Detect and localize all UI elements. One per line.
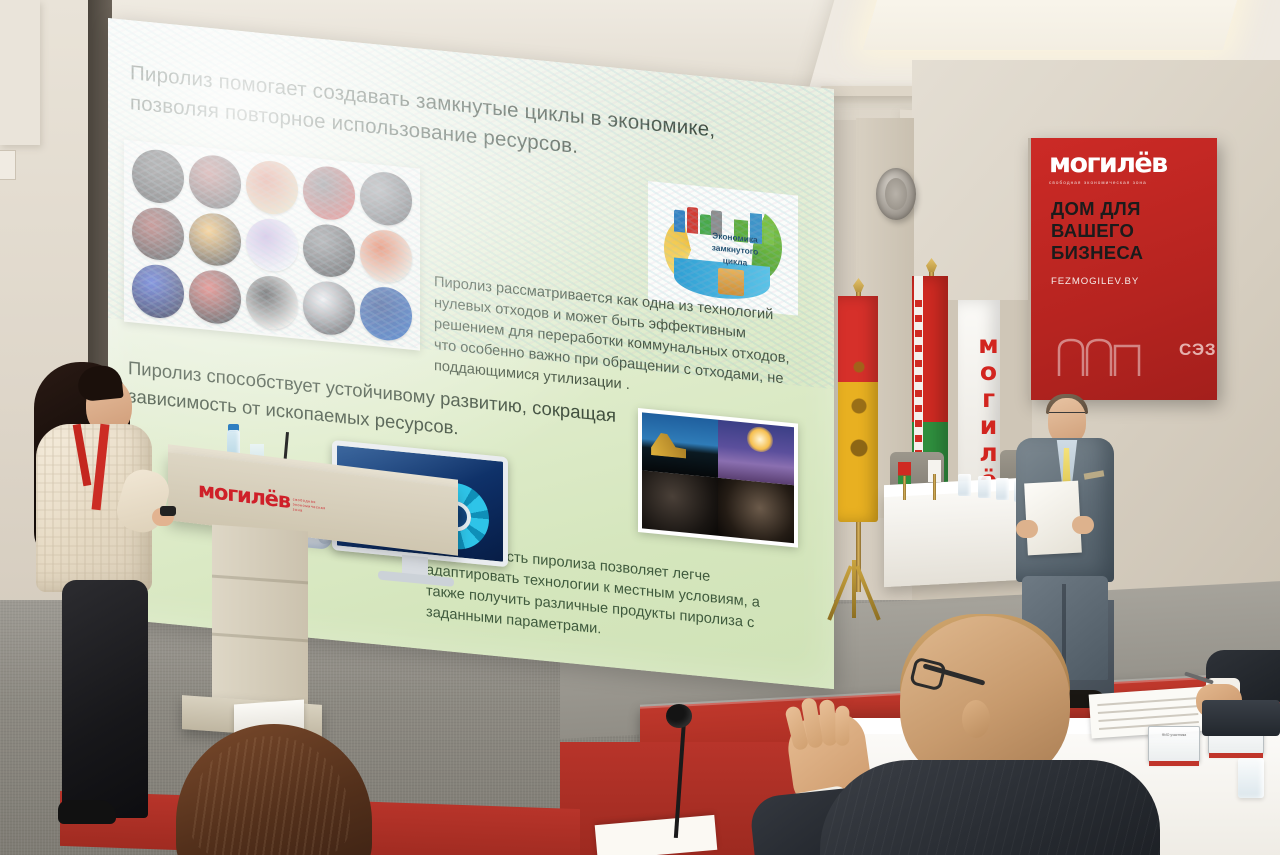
attendee-ear — [962, 700, 990, 738]
product-photo-recycled-textile — [189, 153, 241, 211]
water-tumbler — [996, 478, 1009, 500]
region-flag-ornament — [846, 340, 872, 490]
product-photo-blue-cables — [132, 263, 184, 321]
speaker-hand — [1016, 520, 1038, 538]
product-photo-wire-cross-section — [189, 268, 241, 326]
desk-flag-pole — [903, 476, 906, 500]
nameplate-text: ФИО участника — [1149, 727, 1199, 738]
banner-abbreviation: СЭЗ — [1179, 340, 1217, 360]
water-tumbler — [958, 474, 971, 496]
product-photo-carbon-fiber-rods — [303, 279, 355, 337]
fossil-resources-collage — [638, 408, 798, 548]
product-photo-paint-buckets — [303, 164, 355, 222]
product-photo-paint-cans-shelf — [246, 159, 298, 217]
tabletop-device — [1202, 700, 1280, 736]
water-glass — [1238, 758, 1264, 798]
desk-flag-pole — [933, 474, 936, 500]
banner-url: FEZMOGILEV.BY — [1051, 276, 1139, 287]
presenter-trousers — [62, 580, 148, 818]
conference-photo: Пиролиз помогает создавать замкнутые цик… — [0, 0, 1280, 855]
shopping-bag-icon — [718, 268, 744, 297]
national-emblem-plaque — [876, 168, 916, 220]
gas-flare-photo — [718, 420, 794, 485]
flag-stand — [832, 560, 876, 620]
coal-photo — [642, 470, 718, 535]
product-photo-termal-product-can — [246, 274, 298, 332]
floor-microphone-icon — [666, 704, 692, 728]
speaker-hand — [1072, 516, 1094, 534]
banner-brand: могилёв — [1049, 150, 1199, 178]
product-photo-composite-boards — [360, 170, 412, 228]
banner-headline: ДОМ ДЛЯ ВАШЕГО БИЗНЕСА — [1051, 198, 1211, 264]
podium-brand-subtitle: свободная экономическая зона — [293, 497, 329, 516]
presenter-shoe — [58, 800, 116, 824]
product-photo-rubber-boot — [132, 147, 184, 205]
product-photo-carbon-black-sheet — [132, 205, 184, 263]
wall-sensor-icon — [0, 150, 16, 180]
product-photo-cosmetic-bottles — [246, 216, 298, 274]
oil-derricks-photo — [642, 412, 718, 477]
product-photo-molten-metal-pour — [189, 211, 241, 269]
nameplate: ФИО участника — [1148, 726, 1200, 762]
speaker-glasses-icon — [1049, 412, 1085, 420]
fez-mogilev-banner: могилёв свободная экономическая зона ДОМ… — [1028, 138, 1217, 400]
speaker-papers — [1024, 481, 1082, 556]
product-photo-carbon-pellets — [303, 222, 355, 280]
banner-logo: могилёв свободная экономическая зона — [1049, 150, 1199, 186]
banner-monogram-icon — [1053, 336, 1173, 378]
podium-column — [212, 525, 308, 712]
banner-brand-subtitle: свободная экономическая зона — [1049, 179, 1199, 186]
suit-pinstripe-texture — [820, 760, 1160, 855]
crude-oil-photo — [718, 478, 794, 543]
product-grid-card — [124, 140, 420, 351]
product-photo-solar-panels — [360, 285, 412, 343]
ceiling-light-panel — [863, 0, 1257, 50]
product-photo-insulation-materials — [360, 227, 412, 285]
presentation-clicker — [160, 506, 176, 516]
water-tumbler — [978, 476, 991, 498]
left-wall-trim — [0, 0, 40, 145]
